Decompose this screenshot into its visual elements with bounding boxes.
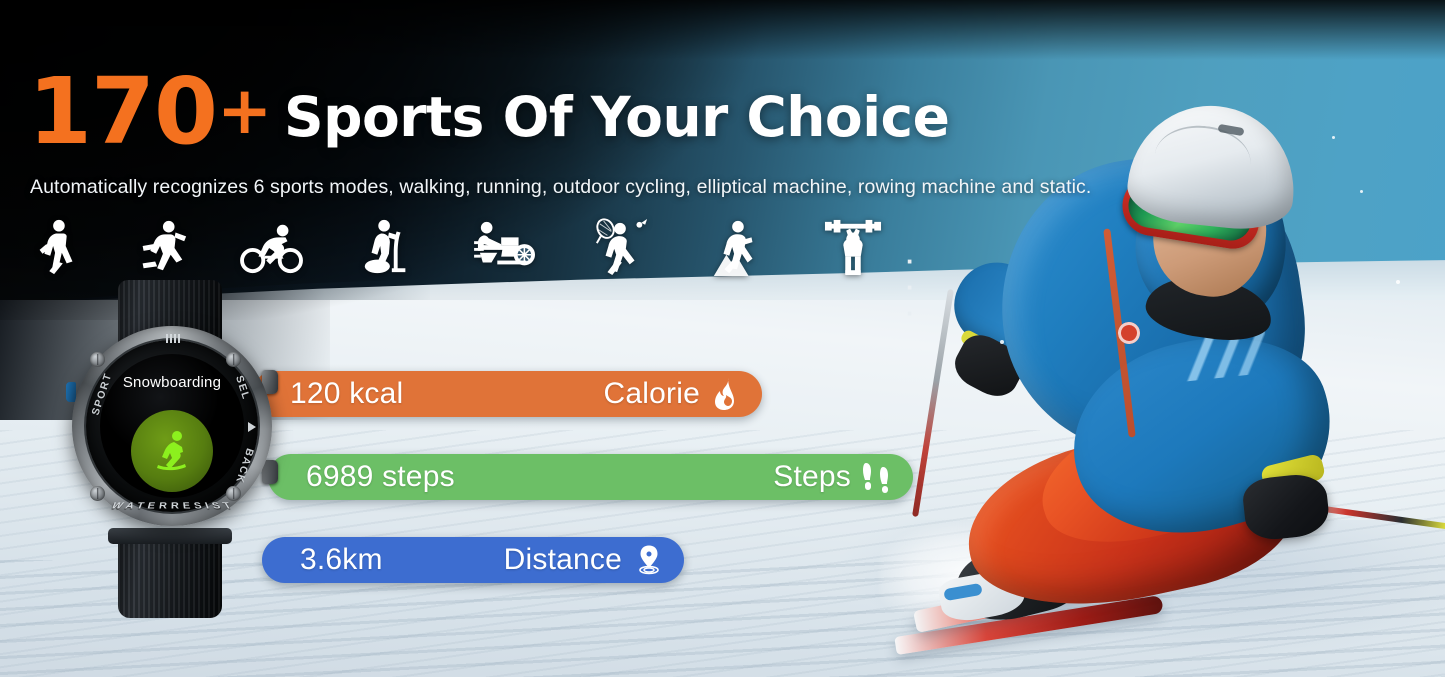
- distance-value: 3.6km: [300, 543, 383, 577]
- snowboarding-icon: [131, 410, 213, 492]
- page-title: Sports Of Your Choice: [284, 90, 949, 145]
- calorie-value: 120 kcal: [290, 377, 403, 411]
- flame-icon: [710, 377, 744, 411]
- glove-right: [1241, 472, 1331, 542]
- page-subtitle: Automatically recognizes 6 sports modes,…: [30, 176, 1091, 199]
- sport-count-plus: +: [217, 72, 271, 149]
- footprints-icon: [861, 460, 895, 494]
- running-icon: [132, 218, 190, 276]
- bezel-top-marker: [166, 334, 180, 343]
- strap-texture: [118, 534, 222, 618]
- steps-label: Steps: [773, 460, 851, 494]
- calorie-label: Calorie: [604, 377, 700, 411]
- bezel-screw: [226, 486, 241, 501]
- badminton-icon: [592, 218, 650, 276]
- snow-particle: [1396, 280, 1400, 284]
- sport-count: 170+: [28, 66, 271, 158]
- more-sports-ellipsis: · · ·: [906, 248, 918, 326]
- cycling-icon: [240, 218, 304, 276]
- bezel-right-marker: [248, 422, 256, 432]
- snow-particle: [1332, 136, 1335, 139]
- location-pin-icon: [632, 543, 666, 577]
- sport-count-number: 170: [28, 58, 217, 165]
- promo-banner: 170+ Sports Of Your Choice Automatically…: [0, 0, 1445, 677]
- walking-icon: [28, 218, 86, 276]
- climbing-icon: [708, 218, 766, 276]
- elliptical-icon: [358, 218, 416, 276]
- smartwatch: Snowboarding Goal met 80% 04/06 12:00: [62, 278, 282, 618]
- activity-title: Snowboarding: [100, 374, 244, 391]
- stat-bar-calorie: 120 kcal Calorie: [252, 371, 762, 417]
- bezel-label-waterresist: WATERRESIST: [108, 501, 238, 511]
- weightlifting-icon: [820, 218, 886, 276]
- bezel-screw: [90, 486, 105, 501]
- skier-photo-subject: [940, 40, 1445, 677]
- steps-value: 6989 steps: [306, 460, 455, 494]
- stat-bar-steps: 6989 steps Steps: [268, 454, 913, 500]
- bezel-screw: [90, 352, 105, 367]
- snow-particle: [1360, 190, 1363, 193]
- snow-particle: [1000, 340, 1004, 344]
- bezel-screw: [226, 352, 241, 367]
- rowing-machine-icon: [474, 218, 538, 276]
- stat-bar-distance: 3.6km Distance: [262, 537, 684, 583]
- watch-lug-bottom: [108, 528, 232, 544]
- watch-screen[interactable]: Snowboarding Goal met 80% 04/06 12:00: [100, 354, 244, 498]
- distance-label: Distance: [504, 543, 622, 577]
- watch-strap-bottom: [118, 534, 222, 618]
